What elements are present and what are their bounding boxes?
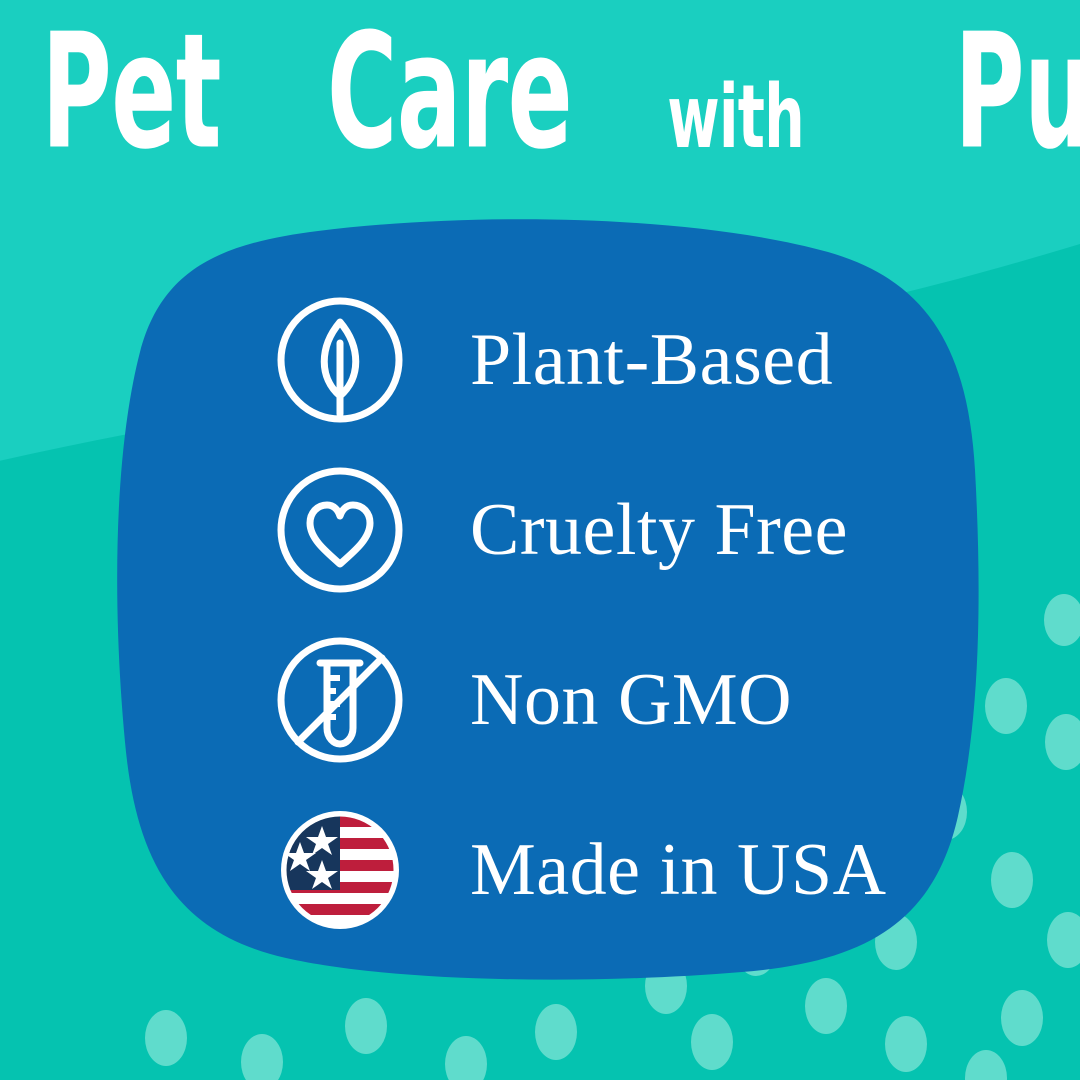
feature-label-made-in-usa: Made in USA <box>470 830 887 910</box>
feature-item-plant-based: Plant-Based <box>272 286 912 434</box>
feature-item-made-in-usa: Made in USA <box>272 796 912 944</box>
leaf-in-circle-icon <box>272 292 408 428</box>
no-test-tube-icon <box>272 632 408 768</box>
usa-flag-circle-icon <box>272 802 408 938</box>
feature-list: Plant-Based Cruelty Free <box>272 286 912 944</box>
poster-canvas: Pet Care with Purpose ® Plant-Based Crue… <box>0 0 1080 1080</box>
feature-label-non-gmo: Non GMO <box>470 660 792 740</box>
feature-label-cruelty-free: Cruelty Free <box>470 490 848 570</box>
feature-item-non-gmo: Non GMO <box>272 626 912 774</box>
feature-item-cruelty-free: Cruelty Free <box>272 456 912 604</box>
feature-label-plant-based: Plant-Based <box>470 320 833 400</box>
heart-in-circle-icon <box>272 462 408 598</box>
